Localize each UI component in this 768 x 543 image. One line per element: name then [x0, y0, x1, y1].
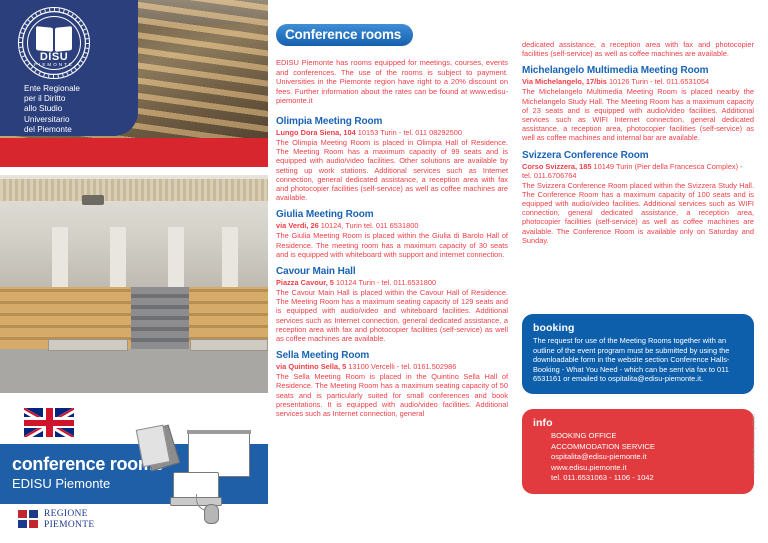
room-name: Sella Meeting Room: [276, 350, 508, 361]
mark-square: [29, 510, 38, 518]
room-address: Lungo Dora Siena, 104 10153 Turin - tel.…: [276, 128, 508, 137]
seal-tick: [54, 8, 55, 12]
institution-name: Ente Regionale per il Diritto allo Studi…: [24, 84, 80, 135]
screen-roller: [187, 430, 251, 434]
book-cover: [136, 425, 171, 468]
room-description: The Giulia Meeting Room is placed within…: [276, 231, 508, 259]
room-address-contact: 10124 Turin - tel. 011.6531800: [334, 278, 436, 287]
photo-drape: [0, 179, 268, 201]
seal-tick: [85, 43, 89, 44]
booking-title: booking: [533, 322, 743, 334]
room-address: via Quintino Sella, 5 13100 Vercelli - t…: [276, 362, 508, 371]
photo-projector: [82, 195, 104, 205]
open-book-icon: [36, 27, 72, 51]
union-jack-flag-icon: [24, 408, 74, 437]
photo-pillar: [52, 227, 68, 287]
rooms-list-right: dedicated assistance, a reception area w…: [522, 40, 754, 252]
credit-text: A cura dell'ufficio booking EDISU: [752, 414, 756, 473]
room-entry: Michelangelo Multimedia Meeting Room Via…: [522, 65, 754, 142]
room-entry: Giulia Meeting Room via Verdi, 26 10124,…: [276, 209, 508, 259]
photo-desk: [48, 339, 128, 351]
room-name: Svizzera Conference Room: [522, 150, 754, 161]
room-address-street: Piazza Cavour, 5: [276, 278, 334, 287]
room-name: Giulia Meeting Room: [276, 209, 508, 220]
illustration-group: [140, 420, 268, 530]
room-entry: Olimpia Meeting Room Lungo Dora Siena, 1…: [276, 116, 508, 202]
rooms-list-left: Olimpia Meeting Room Lungo Dora Siena, 1…: [276, 116, 508, 425]
room-description: The Olimpia Meeting Room is placed in Ol…: [276, 138, 508, 202]
section-header-badge: Conference rooms: [276, 24, 413, 46]
section-header: Conference rooms: [276, 24, 413, 46]
room-address-contact: 10126 Turin - tel. 011.6531054: [607, 77, 709, 86]
room-address-street: via Quintino Sella, 5: [276, 362, 346, 371]
room-entry: Cavour Main Hall Piazza Cavour, 5 10124 …: [276, 266, 508, 343]
room-entry: Sella Meeting Room via Quintino Sella, 5…: [276, 350, 508, 418]
book-spine: [53, 28, 55, 51]
room-name: Olimpia Meeting Room: [276, 116, 508, 127]
cover-subtitle: EDISU Piemonte: [12, 476, 110, 491]
continued-paragraph: dedicated assistance, a reception area w…: [522, 40, 754, 58]
room-address-contact: 10153 Turin - tel. 011 08292500: [356, 128, 462, 137]
mouse-icon: [204, 504, 219, 524]
room-address-contact: 13100 Vercelli - tel. 0161.502986: [346, 362, 456, 371]
room-address: via Verdi, 26 10124, Turin tel. 011 6531…: [276, 221, 508, 230]
room-description: The Svizzera Conference Room placed with…: [522, 181, 754, 245]
regione-mark-icon: [18, 510, 40, 530]
room-entry: Svizzera Conference Room Corso Svizzera,…: [522, 150, 754, 245]
booking-text: The request for use of the Meeting Rooms…: [533, 336, 743, 384]
info-box: info BOOKING OFFICE ACCOMMODATION SERVIC…: [522, 409, 754, 494]
mark-square: [18, 520, 27, 528]
books-icon: [140, 424, 180, 471]
room-address: Piazza Cavour, 5 10124 Turin - tel. 011.…: [276, 278, 508, 287]
seal-tick: [53, 74, 54, 78]
intro-paragraph: EDISU Piemonte has rooms equipped for me…: [276, 58, 508, 106]
regione-line-1: REGIONE: [44, 509, 94, 520]
mark-square: [29, 520, 38, 528]
photo-desk: [190, 339, 268, 351]
seal-tick: [19, 42, 23, 43]
left-column: DISU PIEMONTE Ente Regionale per il Diri…: [0, 0, 268, 543]
room-address-contact: 10124, Turin tel. 011 6531800: [319, 221, 419, 230]
photo-pillar: [222, 227, 238, 287]
brochure-page: DISU PIEMONTE Ente Regionale per il Diri…: [0, 0, 768, 543]
room-address-street: Corso Svizzera, 185: [522, 162, 591, 171]
room-name: Cavour Main Hall: [276, 266, 508, 277]
room-address: Via Michelangelo, 17/bis 10126 Turin - t…: [522, 77, 754, 86]
room-description: The Sella Meeting Room is placed in the …: [276, 372, 508, 418]
photo-floor: [0, 349, 268, 393]
book-page-right: [55, 26, 72, 52]
regione-piemonte-logo: REGIONE PIEMONTE: [18, 508, 102, 534]
red-divider-band: [0, 138, 268, 167]
info-lines: BOOKING OFFICE ACCOMMODATION SERVICE osp…: [551, 431, 743, 484]
photo-pillar: [168, 227, 184, 287]
book-page-left: [36, 26, 53, 52]
photo-lecture-hall-middle: [0, 175, 268, 393]
booking-box: booking The request for use of the Meeti…: [522, 314, 754, 394]
regione-label: REGIONE PIEMONTE: [44, 509, 94, 531]
room-description: The Cavour Main Hall is placed within th…: [276, 288, 508, 343]
edisu-logo-panel: DISU PIEMONTE Ente Regionale per il Diri…: [0, 0, 138, 136]
projection-screen-icon: [188, 433, 250, 477]
room-address-street: Lungo Dora Siena, 104: [276, 128, 356, 137]
mark-square: [18, 510, 27, 518]
room-address-street: Via Michelangelo, 17/bis: [522, 77, 607, 86]
photo-pillar: [110, 227, 126, 287]
flag-cross-red-v: [46, 408, 53, 437]
room-name: Michelangelo Multimedia Meeting Room: [522, 65, 754, 76]
room-address-street: via Verdi, 26: [276, 221, 319, 230]
edisu-seal-icon: DISU PIEMONTE: [18, 7, 90, 79]
regione-line-2: PIEMONTE: [44, 520, 94, 531]
info-title: info: [533, 417, 743, 429]
room-description: The Michelangelo Multimedia Meeting Room…: [522, 87, 754, 142]
room-address: Corso Svizzera, 185 10149 Turin (Pier de…: [522, 162, 754, 180]
